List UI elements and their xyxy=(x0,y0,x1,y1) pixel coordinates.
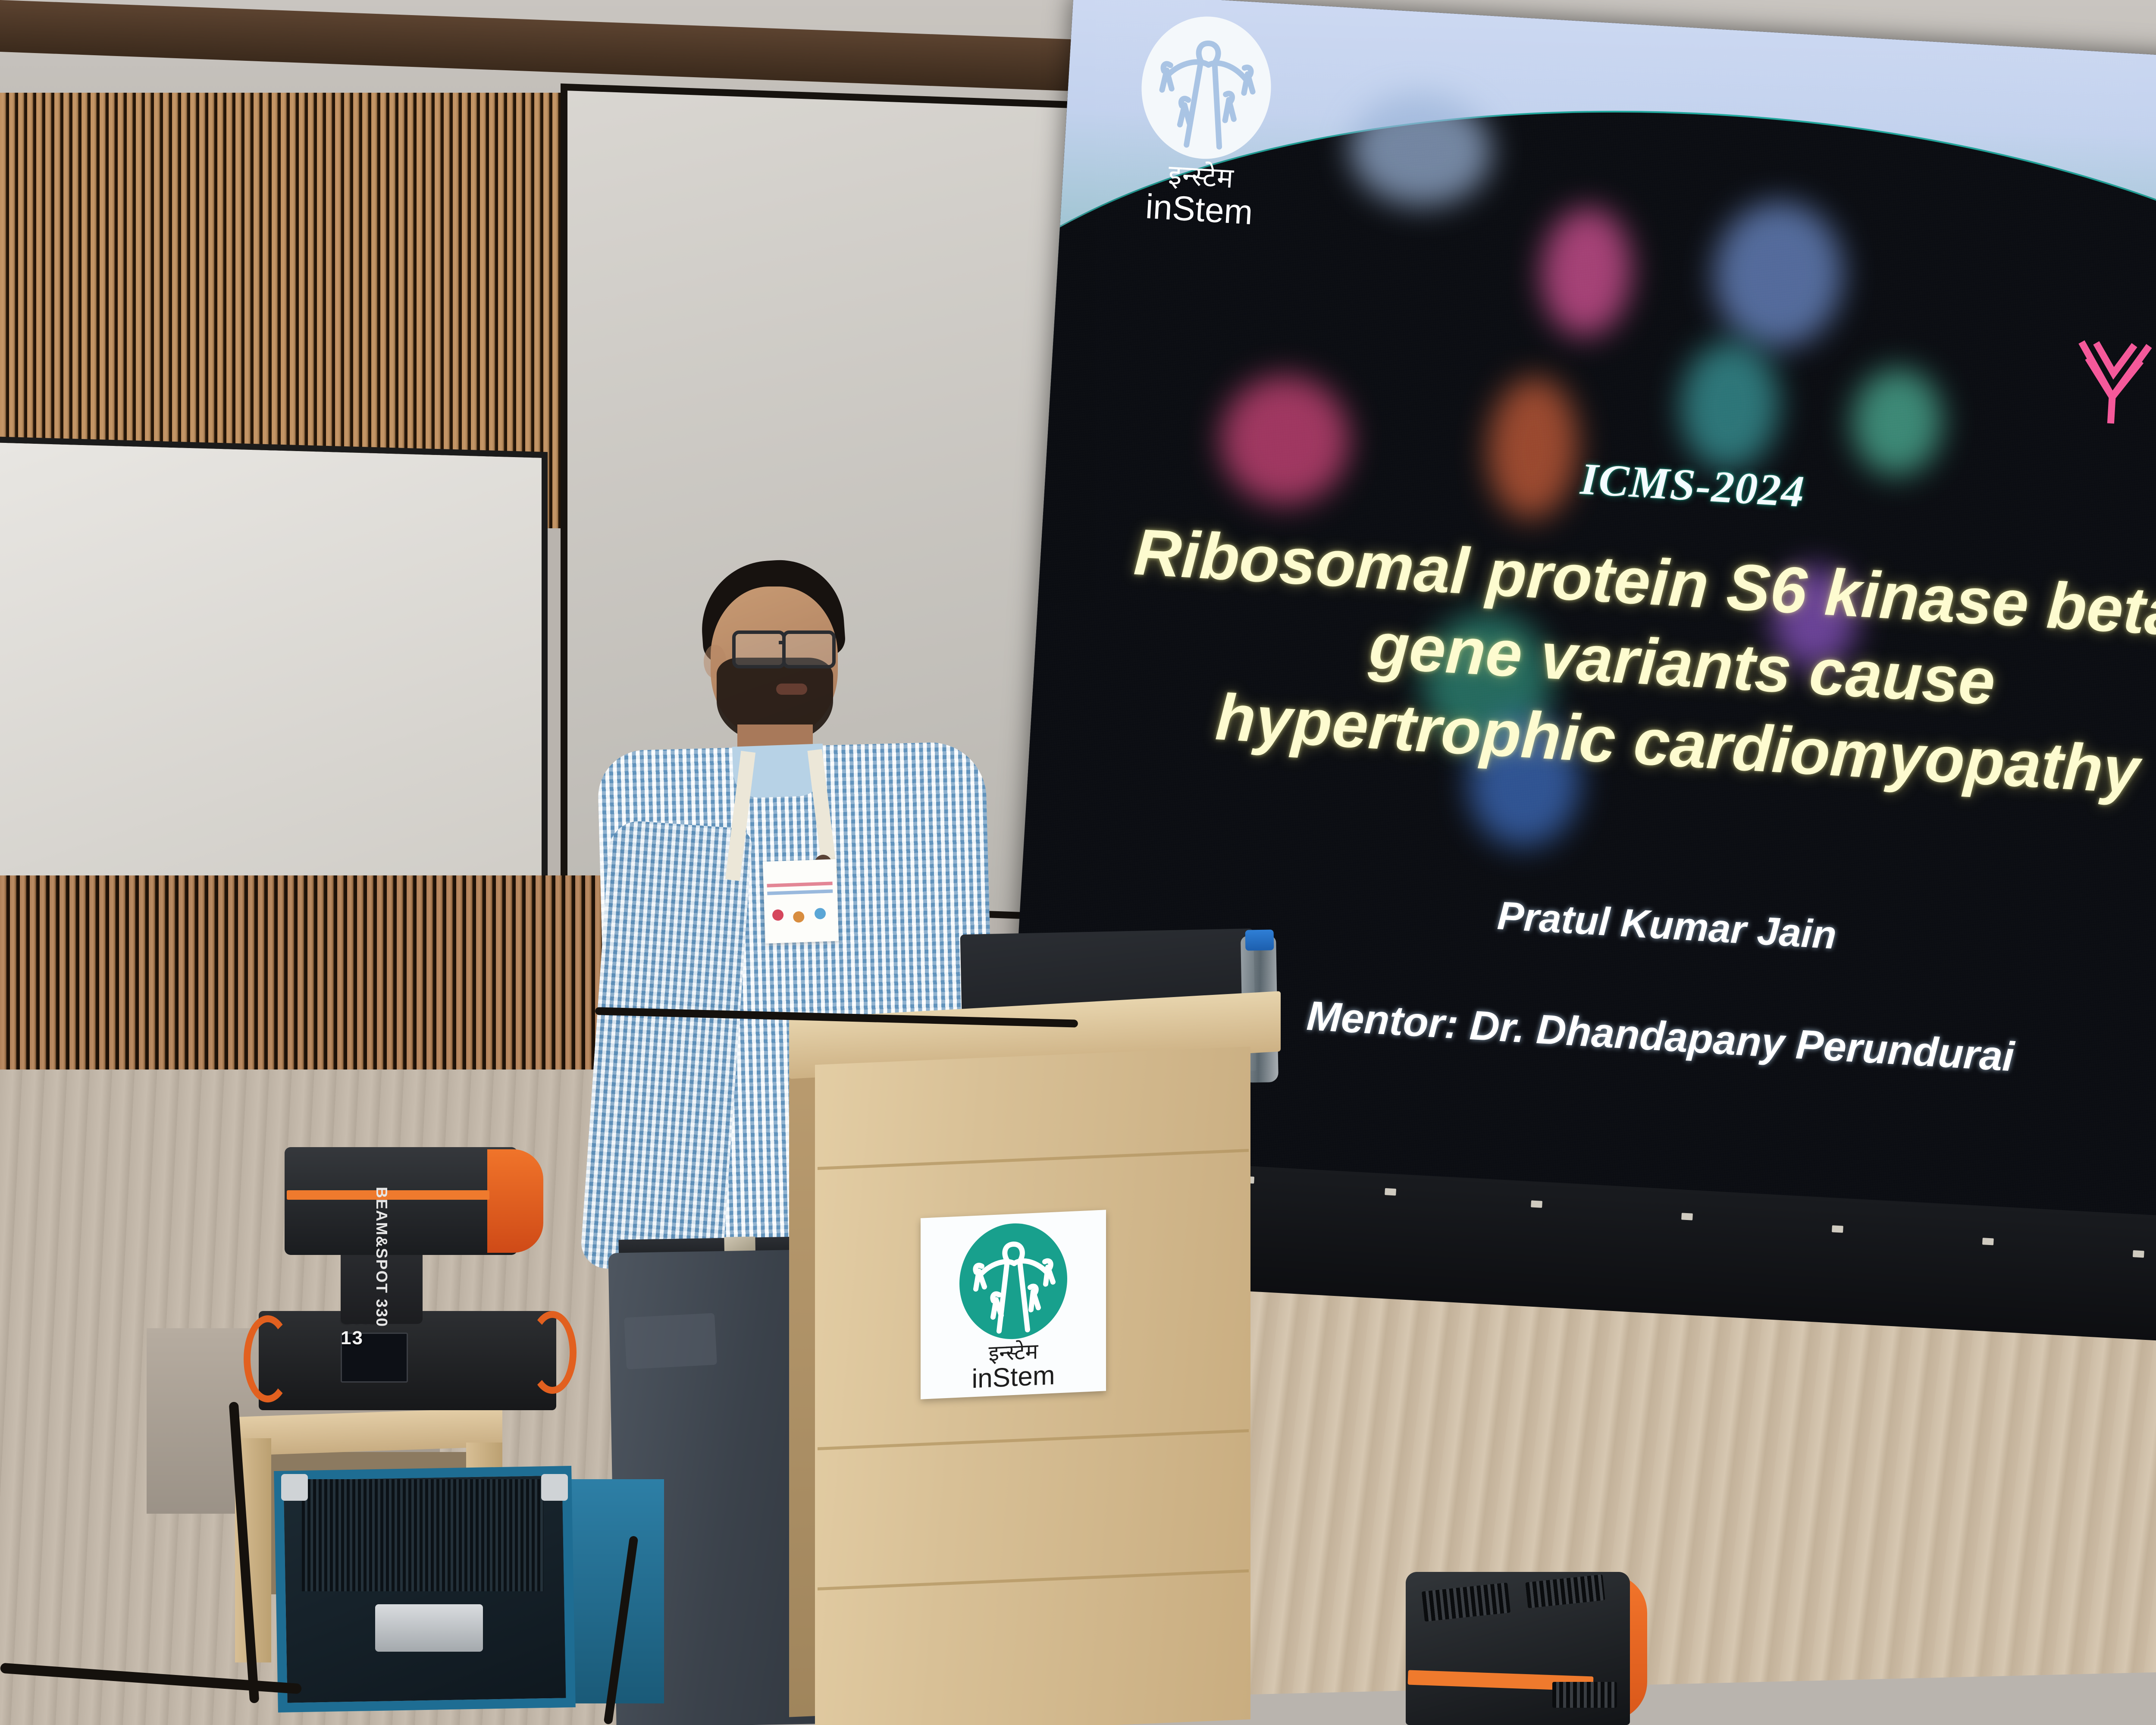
lectern-podium: इन्स्टेम inStem xyxy=(789,1005,1281,1725)
person-mouth xyxy=(776,684,807,695)
trouser-pocket xyxy=(624,1313,717,1370)
stage-light-brand-text: BEAM&SPOT 330 xyxy=(328,1220,436,1294)
flight-case-corner xyxy=(541,1474,568,1501)
instem-podium-sign: इन्स्टेम inStem xyxy=(921,1210,1106,1399)
photograph-scene: इन्स्टेम inStem PERUNDURAI LAB xyxy=(0,0,2156,1725)
conference-name-badge xyxy=(763,859,839,944)
flight-case-latch xyxy=(375,1604,483,1652)
projection-screen-main-left xyxy=(0,436,548,913)
eyeglasses-right-lens xyxy=(782,630,836,668)
eyeglasses-bridge xyxy=(779,641,786,644)
instem-devanagari-podium: इन्स्टेम xyxy=(989,1340,1038,1364)
flight-case-grill xyxy=(302,1479,543,1591)
instem-disc-icon-podium xyxy=(959,1221,1067,1341)
flight-case-corner xyxy=(281,1474,308,1501)
water-bottle-cap xyxy=(1245,929,1274,950)
eyeglasses-left-lens xyxy=(732,630,786,668)
instem-wordmark-podium: inStem xyxy=(972,1362,1055,1393)
